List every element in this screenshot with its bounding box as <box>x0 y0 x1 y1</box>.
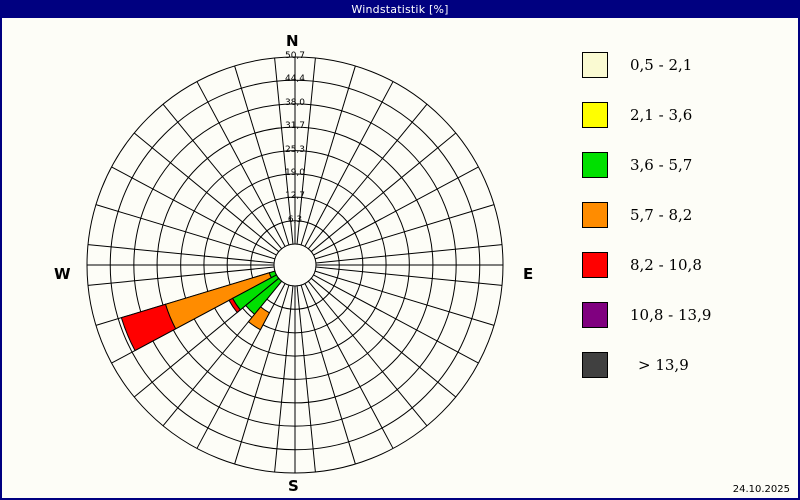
grid-spoke <box>96 205 275 259</box>
grid-spoke <box>308 104 427 249</box>
grid-spoke <box>308 281 427 426</box>
grid-spoke <box>314 167 479 255</box>
legend-item[interactable]: 0,5 - 2,1 <box>582 40 792 90</box>
radial-tick-label: 12,7 <box>275 191 315 201</box>
radial-tick-label: 31,7 <box>275 121 315 131</box>
grid-spoke <box>305 284 393 449</box>
grid-spoke <box>311 278 456 397</box>
calm-circle <box>274 244 316 286</box>
legend-item[interactable]: > 13,9 <box>582 340 792 390</box>
radial-tick-label: 19,0 <box>275 168 315 178</box>
legend-item-label: 8,2 - 10,8 <box>630 256 702 274</box>
radial-tick-label: 38,0 <box>275 98 315 108</box>
speed-bin-legend: 0,5 - 2,12,1 - 3,63,6 - 5,75,7 - 8,28,2 … <box>582 40 792 390</box>
windrose-plot: N E S W 6,312,719,025,331,738,044,450,7 <box>2 18 562 500</box>
radial-tick-label: 44,4 <box>275 74 315 84</box>
legend-item[interactable]: 8,2 - 10,8 <box>582 240 792 290</box>
legend-color-swatch <box>582 102 608 128</box>
radial-tick-label: 50,7 <box>275 51 315 61</box>
date-stamp: 24.10.2025 <box>733 484 790 495</box>
petal-segment <box>121 304 175 350</box>
legend-color-swatch <box>582 352 608 378</box>
grid-spoke <box>301 285 355 464</box>
compass-label-east: E <box>523 265 533 283</box>
legend-color-swatch <box>582 252 608 278</box>
legend-item[interactable]: 2,1 - 3,6 <box>582 90 792 140</box>
grid-spoke <box>315 205 494 259</box>
window-titlebar: Windstatistik [%] <box>2 2 798 18</box>
legend-item-label: 10,8 - 13,9 <box>630 306 711 324</box>
grid-spoke <box>314 275 479 363</box>
legend-item-label: > 13,9 <box>638 356 689 374</box>
legend-item-label: 2,1 - 3,6 <box>630 106 692 124</box>
windstatistik-window: Windstatistik [%] N E S W 6,312,719,025,… <box>0 0 800 500</box>
legend-color-swatch <box>582 52 608 78</box>
grid-spoke <box>112 167 277 255</box>
windrose-canvas <box>2 18 562 500</box>
legend-item[interactable]: 5,7 - 8,2 <box>582 190 792 240</box>
radial-tick-label: 6,3 <box>275 215 315 225</box>
legend-item[interactable]: 3,6 - 5,7 <box>582 140 792 190</box>
legend-item-label: 5,7 - 8,2 <box>630 206 692 224</box>
legend-color-swatch <box>582 202 608 228</box>
windrose-petals <box>121 271 281 350</box>
grid-spoke <box>311 133 456 252</box>
legend-item-label: 3,6 - 5,7 <box>630 156 692 174</box>
grid-spoke <box>315 271 494 325</box>
grid-spoke <box>197 82 285 247</box>
compass-label-west: W <box>54 265 71 283</box>
legend-item[interactable]: 10,8 - 13,9 <box>582 290 792 340</box>
compass-label-north: N <box>286 32 299 50</box>
legend-item-label: 0,5 - 2,1 <box>630 56 692 74</box>
compass-label-south: S <box>288 477 299 495</box>
grid-spoke <box>305 82 393 247</box>
grid-spoke <box>163 104 282 249</box>
radial-tick-label: 25,3 <box>275 145 315 155</box>
legend-color-swatch <box>582 152 608 178</box>
grid-spoke <box>134 133 279 252</box>
legend-color-swatch <box>582 302 608 328</box>
